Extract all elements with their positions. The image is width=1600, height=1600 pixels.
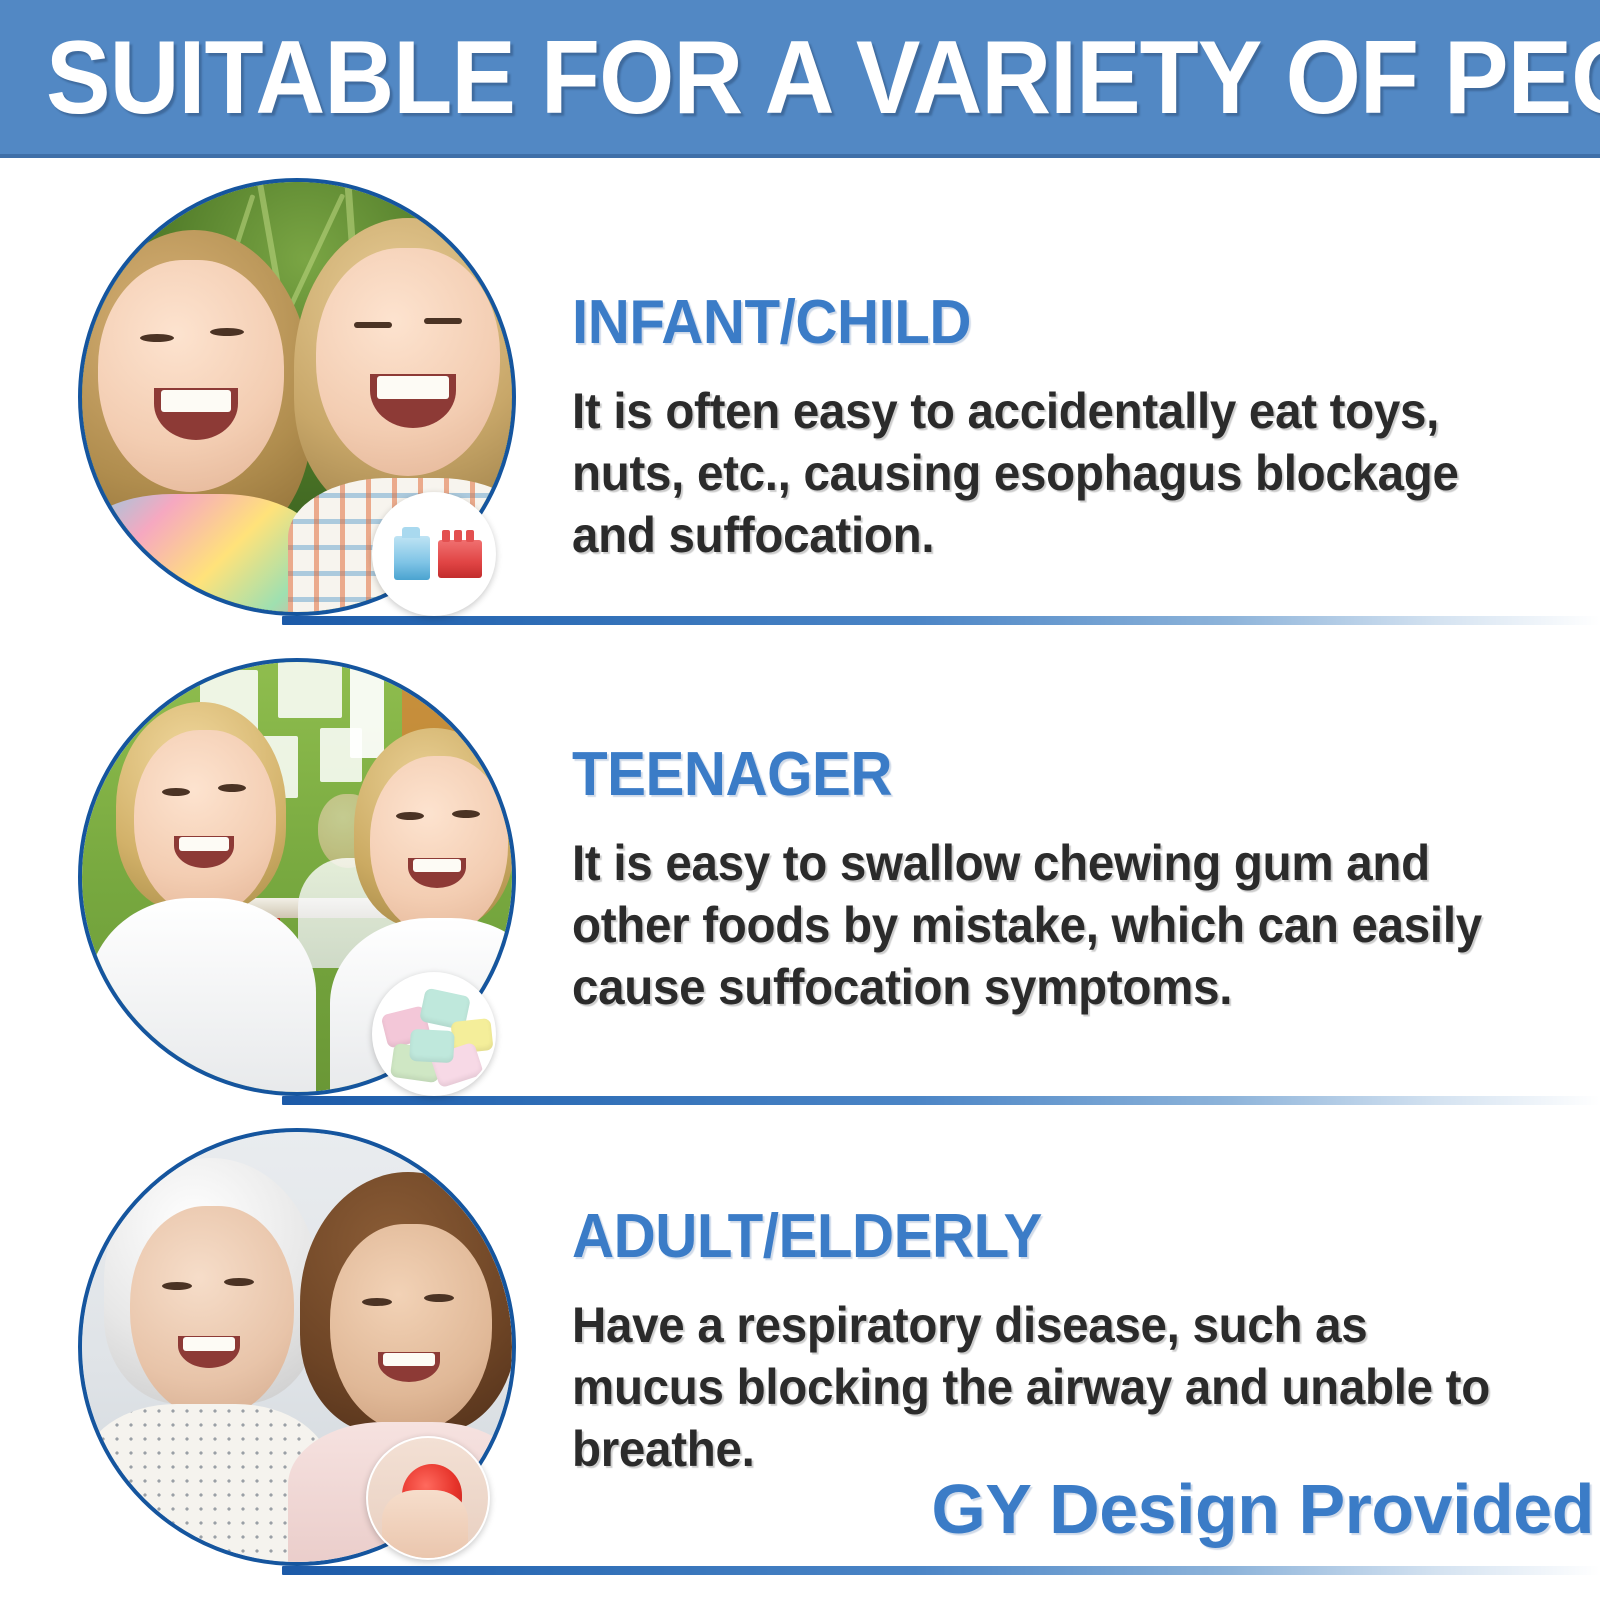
lungs-icon: [368, 1438, 488, 1558]
section-divider-1: [282, 616, 1600, 625]
infographic-page: SUITABLE FOR A VARIETY OF PEOPLE: [0, 0, 1600, 1600]
badge-toy-blocks: [372, 492, 496, 616]
section-divider-3: [282, 1566, 1600, 1575]
design-credit: GY Design Provided: [931, 1468, 1594, 1550]
section-teenager: TEENAGER It is easy to swallow chewing g…: [0, 650, 1600, 1120]
badge-chewing-gum: [372, 972, 496, 1096]
section-body-adult-elderly: Have a respiratory disease, such as mucu…: [572, 1294, 1522, 1480]
section-heading-adult-elderly: ADULT/ELDERLY: [572, 1202, 1512, 1272]
section-heading-infant-child: INFANT/CHILD: [572, 288, 1512, 358]
section-divider-2: [282, 1096, 1600, 1105]
text-column-infant-child: INFANT/CHILD It is often easy to acciden…: [572, 288, 1572, 566]
text-column-teenager: TEENAGER It is easy to swallow chewing g…: [572, 740, 1572, 1018]
section-body-teenager: It is easy to swallow chewing gum and ot…: [572, 832, 1522, 1018]
section-infant-child: INFANT/CHILD It is often easy to acciden…: [0, 170, 1600, 640]
chewing-gum-icon: [374, 974, 494, 1094]
section-body-infant-child: It is often easy to accidentally eat toy…: [572, 380, 1522, 566]
section-heading-teenager: TEENAGER: [572, 740, 1512, 810]
badge-lungs: [366, 1436, 490, 1560]
toy-blocks-icon: [374, 494, 494, 614]
page-title: SUITABLE FOR A VARIETY OF PEOPLE: [46, 14, 1460, 142]
text-column-adult-elderly: ADULT/ELDERLY Have a respiratory disease…: [572, 1202, 1572, 1480]
